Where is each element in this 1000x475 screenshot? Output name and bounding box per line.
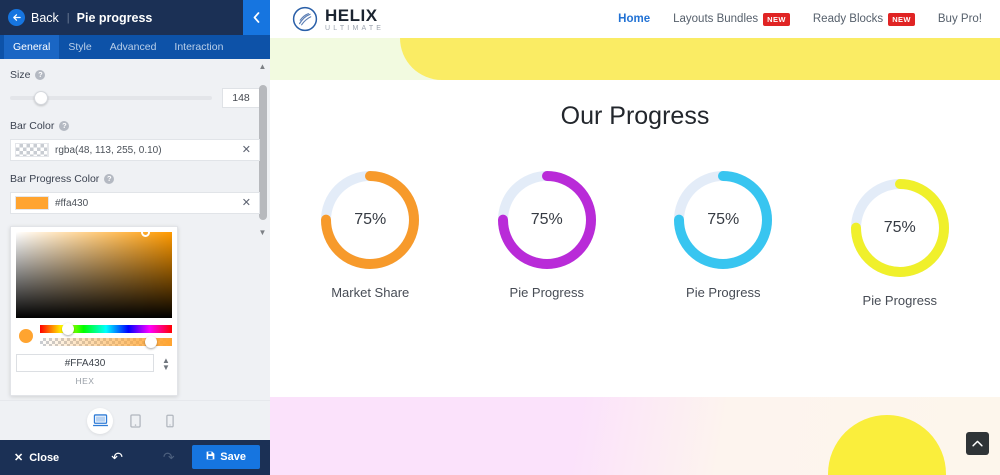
progress-ring-label: Pie Progress <box>686 285 760 300</box>
triangle-up-icon[interactable]: ▲ <box>258 63 267 71</box>
tab-general[interactable]: General <box>4 35 59 59</box>
chevron-down-icon[interactable]: ▼ <box>162 364 170 371</box>
back-button-label[interactable]: Back <box>31 11 59 25</box>
progress-circle-item: 75%Pie Progress <box>812 179 989 308</box>
hex-field-wrap: #FFA430 HEX <box>16 354 154 386</box>
nav-item-home[interactable]: Home <box>618 13 650 25</box>
progress-ring: 75% <box>321 171 419 269</box>
saturation-value-area[interactable] <box>16 232 172 318</box>
bar-progress-color-swatch[interactable] <box>15 196 49 210</box>
panel-scrollbar[interactable] <box>259 85 267 220</box>
progress-ring: 75% <box>498 171 596 269</box>
question-mark-icon[interactable]: ? <box>104 174 114 184</box>
logo-tagline: ULTIMATE <box>325 25 384 32</box>
arrow-left-icon[interactable] <box>8 9 25 26</box>
sidebar-action-bar: ✕ Close ↶ ↷ Save <box>0 440 270 475</box>
progress-ring: 75% <box>674 171 772 269</box>
tab-advanced[interactable]: Advanced <box>101 35 166 59</box>
section-title: Our Progress <box>270 102 1000 131</box>
page-title: Pie progress <box>77 11 153 25</box>
size-slider-handle[interactable] <box>34 91 48 105</box>
field-bar-progress-color: Bar Progress Color ? #ffa430 ✕ <box>10 173 260 214</box>
save-button-label: Save <box>220 451 246 463</box>
hex-row: #FFA430 HEX ▲ ▼ <box>16 354 172 390</box>
nav-item-label: Layouts Bundles <box>673 13 758 25</box>
nav-item-label: Buy Pro! <box>938 13 982 25</box>
progress-ring-value: 75% <box>851 179 949 277</box>
chevron-up-icon <box>972 438 983 450</box>
redo-arrow-icon[interactable]: ↷ <box>163 449 175 466</box>
nav-item-buy-pro[interactable]: Buy Pro! <box>938 13 982 25</box>
settings-sidebar: Back | Pie progress General Style Advanc… <box>0 0 270 475</box>
undo-arrow-icon[interactable]: ↶ <box>111 449 123 466</box>
status-badge: NEW <box>763 13 790 26</box>
bar-progress-color-label-text: Bar Progress Color <box>10 173 99 185</box>
site-header: HELIX ULTIMATE Home Layouts Bundles NEW … <box>270 0 1000 38</box>
progress-circle-item: 75%Pie Progress <box>459 171 636 300</box>
logo-text: HELIX ULTIMATE <box>325 7 384 32</box>
question-mark-icon[interactable]: ? <box>59 121 69 131</box>
alpha-slider-handle[interactable] <box>145 336 157 348</box>
alpha-slider[interactable] <box>40 338 172 346</box>
progress-ring-value: 75% <box>498 171 596 269</box>
chevron-left-icon[interactable] <box>243 0 270 35</box>
site-navigation: Home Layouts Bundles NEW Ready Blocks NE… <box>618 13 982 26</box>
tab-style[interactable]: Style <box>59 35 100 59</box>
tablet-icon[interactable] <box>122 408 148 434</box>
progress-section: Our Progress 75%Market Share75%Pie Progr… <box>270 80 1000 322</box>
device-preview-toggles <box>0 400 270 440</box>
sidebar-topbar: Back | Pie progress <box>0 0 270 35</box>
breadcrumb-separator: | <box>67 12 70 24</box>
field-bar-progress-color-label: Bar Progress Color ? <box>10 173 260 185</box>
size-slider-row: 148 <box>10 88 260 108</box>
desktop-icon[interactable] <box>87 408 113 434</box>
color-picker-popover[interactable]: #FFA430 HEX ▲ ▼ <box>10 226 178 396</box>
decorative-top-band <box>270 38 1000 80</box>
nav-item-label: Ready Blocks <box>813 13 883 25</box>
field-size: Size ? 148 <box>10 69 260 108</box>
color-format-stepper[interactable]: ▲ ▼ <box>160 354 172 371</box>
close-icon[interactable]: ✕ <box>238 198 259 209</box>
settings-tabs: General Style Advanced Interaction <box>0 35 270 59</box>
progress-ring-label: Pie Progress <box>863 293 937 308</box>
hue-slider-handle[interactable] <box>62 323 74 335</box>
status-badge: NEW <box>888 13 915 26</box>
progress-ring: 75% <box>851 179 949 277</box>
settings-panel: ▲ ▼ Size ? 148 Bar Color <box>0 59 270 400</box>
progress-circle-item: 75%Market Share <box>282 171 459 300</box>
site-preview: HELIX ULTIMATE Home Layouts Bundles NEW … <box>270 0 1000 475</box>
progress-circles-row: 75%Market Share75%Pie Progress75%Pie Pro… <box>270 171 1000 308</box>
field-size-label: Size ? <box>10 69 260 81</box>
editor-window: Back | Pie progress General Style Advanc… <box>0 0 1000 475</box>
floppy-disk-icon <box>206 451 215 463</box>
bar-color-label-text: Bar Color <box>10 120 54 132</box>
nav-item-label: Home <box>618 13 650 25</box>
decorative-yellow-shape <box>400 38 1000 80</box>
progress-ring-label: Pie Progress <box>510 285 584 300</box>
progress-ring-value: 75% <box>674 171 772 269</box>
question-mark-icon[interactable]: ? <box>35 70 45 80</box>
progress-circle-item: 75%Pie Progress <box>635 171 812 300</box>
hex-caption: HEX <box>16 376 154 386</box>
mobile-icon[interactable] <box>157 408 183 434</box>
close-x-icon: ✕ <box>14 451 23 464</box>
progress-ring-value: 75% <box>321 171 419 269</box>
field-bar-color-label: Bar Color ? <box>10 120 260 132</box>
hex-input[interactable]: #FFA430 <box>16 354 154 372</box>
bar-color-input[interactable]: rgba(48, 113, 255, 0.10) ✕ <box>10 139 260 161</box>
bar-color-swatch[interactable] <box>15 143 49 157</box>
hue-slider[interactable] <box>40 325 172 333</box>
scroll-to-top-button[interactable] <box>966 432 989 455</box>
save-button[interactable]: Save <box>192 445 260 469</box>
size-label-text: Size <box>10 69 30 81</box>
bar-progress-color-input[interactable]: #ffa430 ✕ <box>10 192 260 214</box>
triangle-down-icon[interactable]: ▼ <box>258 229 267 237</box>
decorative-yellow-circle <box>828 415 946 475</box>
close-icon[interactable]: ✕ <box>238 145 259 156</box>
helix-circle-icon <box>292 6 318 32</box>
color-sliders <box>40 325 172 346</box>
bar-color-value: rgba(48, 113, 255, 0.10) <box>55 145 238 156</box>
nav-item-layouts-bundles[interactable]: Layouts Bundles NEW <box>673 13 790 26</box>
decorative-bottom-band <box>270 397 1000 475</box>
color-preview-swatch <box>19 329 33 343</box>
size-input[interactable]: 148 <box>222 88 260 108</box>
size-slider[interactable] <box>10 96 212 100</box>
tab-interaction[interactable]: Interaction <box>165 35 232 59</box>
color-picker-controls <box>16 325 172 346</box>
close-button-label: Close <box>29 452 59 464</box>
site-logo[interactable]: HELIX ULTIMATE <box>292 6 384 32</box>
logo-name: HELIX <box>325 7 384 24</box>
close-button[interactable]: ✕ Close <box>0 451 59 464</box>
saturation-pointer[interactable] <box>141 228 150 237</box>
bar-progress-color-value: #ffa430 <box>55 198 238 209</box>
nav-item-ready-blocks[interactable]: Ready Blocks NEW <box>813 13 915 26</box>
progress-ring-label: Market Share <box>331 285 409 300</box>
field-bar-color: Bar Color ? rgba(48, 113, 255, 0.10) ✕ <box>10 120 260 161</box>
